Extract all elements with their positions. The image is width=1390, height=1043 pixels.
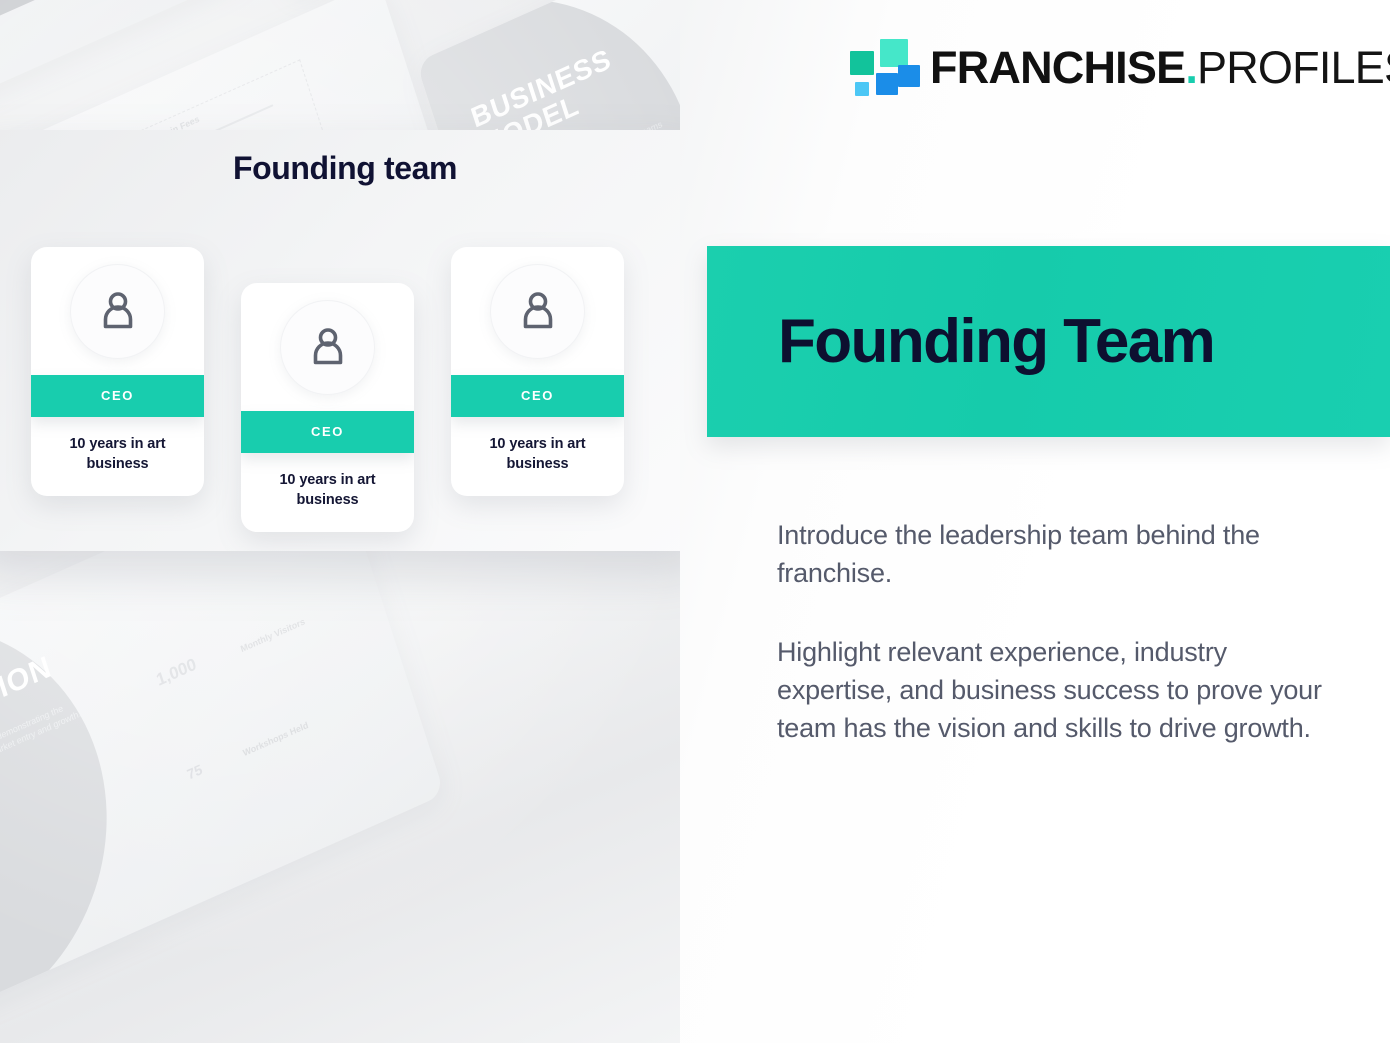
role-badge: CEO bbox=[241, 411, 414, 453]
person-icon bbox=[95, 288, 141, 334]
avatar bbox=[31, 247, 204, 375]
avatar bbox=[451, 247, 624, 375]
bg-slide-cover-subtitle: Investor pitch deck bbox=[0, 0, 130, 66]
avatar bbox=[241, 283, 414, 411]
member-note: 10 years in art business bbox=[241, 453, 414, 532]
bg-slide-traction-stat-2-value: 75 bbox=[185, 761, 204, 783]
logo-word-franchise: FRANCHISE bbox=[930, 42, 1185, 93]
description-paragraph-2: Highlight relevant experience, industry … bbox=[777, 633, 1347, 748]
title-banner: Founding Team bbox=[707, 246, 1390, 437]
team-member-card[interactable]: CEO 10 years in art business bbox=[31, 247, 204, 496]
description-paragraph-1: Introduce the leadership team behind the… bbox=[777, 516, 1347, 593]
template-preview-panel: Founding team CEO 10 years in art busine… bbox=[0, 130, 706, 551]
slide-root: THE MARKET Growing demand for creative e… bbox=[0, 0, 1390, 1043]
team-member-card[interactable]: CEO 10 years in art business bbox=[241, 283, 414, 532]
page-title: Founding Team bbox=[778, 311, 1214, 373]
logo-dot: . bbox=[1185, 42, 1197, 93]
role-badge: CEO bbox=[31, 375, 204, 417]
bg-slide-traction-stat-1-label: Monthly Visitors bbox=[239, 616, 306, 654]
person-icon bbox=[515, 288, 561, 334]
description-block: Introduce the leadership team behind the… bbox=[777, 516, 1347, 748]
member-note: 10 years in art business bbox=[451, 417, 624, 496]
bg-slide-traction-stat-2-label: Workshops Held bbox=[242, 720, 310, 758]
brand-logo: FRANCHISE.PROFILES bbox=[850, 38, 1390, 96]
member-note: 10 years in art business bbox=[31, 417, 204, 496]
logo-squares-icon bbox=[850, 38, 912, 96]
avatar-circle bbox=[280, 300, 375, 395]
team-member-card[interactable]: CEO 10 years in art business bbox=[451, 247, 624, 496]
bg-slide-traction-stat-1-value: 1,000 bbox=[154, 654, 199, 690]
avatar-circle bbox=[490, 264, 585, 359]
person-icon bbox=[305, 324, 351, 370]
role-badge: CEO bbox=[451, 375, 624, 417]
avatar-circle bbox=[70, 264, 165, 359]
right-column: FRANCHISE.PROFILES Founding Team Introdu… bbox=[680, 0, 1390, 1043]
logo-wordmark: FRANCHISE.PROFILES bbox=[930, 45, 1390, 90]
logo-word-profiles: PROFILES bbox=[1197, 42, 1390, 93]
preview-card-list: CEO 10 years in art business CEO 10 year… bbox=[0, 130, 706, 551]
